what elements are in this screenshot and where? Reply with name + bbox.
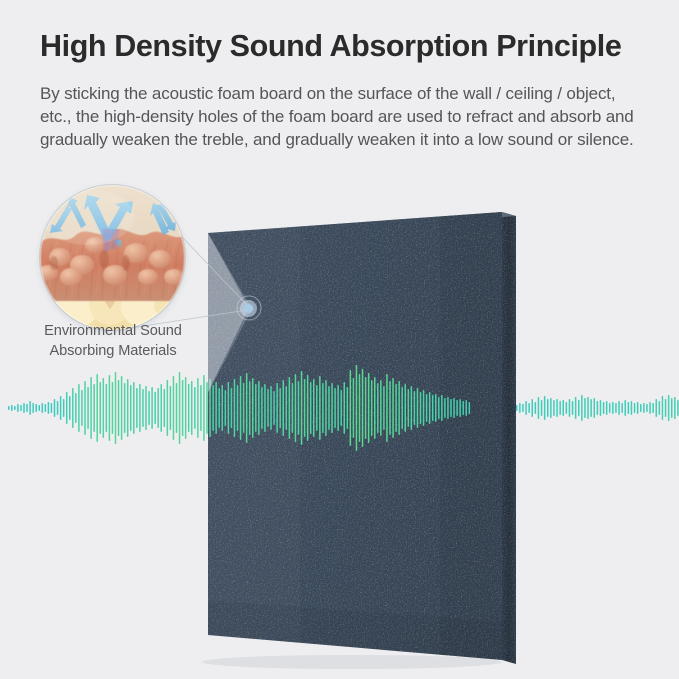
caption-line-2: Absorbing Materials bbox=[22, 342, 204, 362]
callout-hotspot-dot bbox=[240, 300, 257, 317]
caption-line-1: Environmental Sound bbox=[22, 322, 204, 342]
product-infographic: High Density Sound Absorption Principle … bbox=[0, 0, 679, 679]
callout-caption: Environmental Sound Absorbing Materials bbox=[22, 322, 204, 361]
magnifier-circle bbox=[40, 185, 185, 330]
